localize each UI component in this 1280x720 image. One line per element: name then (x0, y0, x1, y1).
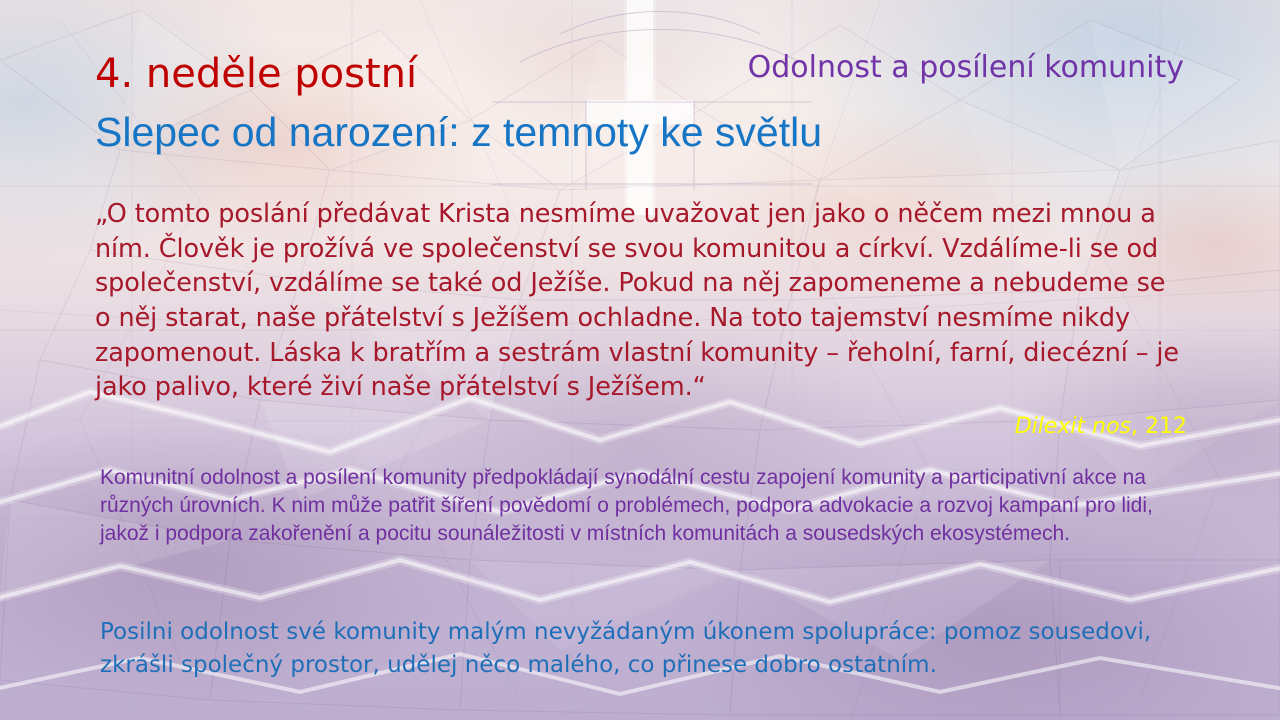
scripture-quote: „O tomto poslání předávat Krista nesmíme… (95, 197, 1187, 405)
slide-content: Odolnost a posílení komunity 4. neděle p… (0, 0, 1280, 720)
slide-title-line2: Slepec od narození: z temnoty ke světlu (95, 110, 822, 156)
quote-source: Dilexit nos, 212 (1015, 414, 1187, 439)
slide-title-line1: 4. neděle postní (95, 52, 417, 97)
commentary-paragraph: Komunitní odolnost a posílení komunity p… (100, 464, 1160, 548)
quote-source-work: Dilexit nos (1015, 414, 1131, 439)
slide-kicker: Odolnost a posílení komunity (748, 51, 1184, 84)
presentation-slide: Odolnost a posílení komunity 4. neděle p… (0, 0, 1280, 720)
quote-source-reference: , 212 (1131, 414, 1187, 439)
call-to-action-paragraph: Posilni odolnost své komunity malým nevy… (100, 616, 1190, 681)
